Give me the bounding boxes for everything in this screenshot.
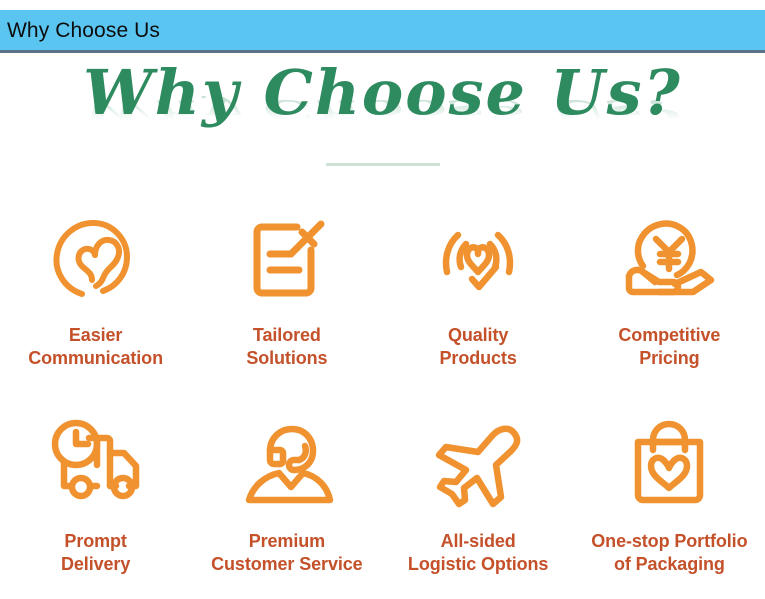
feature-row-2: Prompt Delivery Premium Customer Service — [0, 412, 765, 576]
page-content: Why Choose Us? Why Choose Us? Easier Com… — [0, 56, 765, 599]
feature-label: All-sided Logistic Options — [408, 530, 548, 576]
feature-item-easier-communication[interactable]: Easier Communication — [0, 206, 191, 370]
feature-item-competitive-pricing[interactable]: Competitive Pricing — [574, 206, 765, 370]
feature-item-quality-products[interactable]: Quality Products — [383, 206, 574, 370]
feature-item-one-stop-portfolio-of-packaging[interactable]: One-stop Portfolio of Packaging — [574, 412, 765, 576]
page-title: Why Choose Us? — [0, 62, 765, 124]
page-title-block: Why Choose Us? Why Choose Us? — [0, 62, 765, 162]
feature-row-1: Easier Communication Tailored Solutions — [0, 206, 765, 370]
hand-coin-yen-icon — [619, 206, 719, 310]
headset-agent-icon — [237, 412, 337, 516]
feature-label: Competitive Pricing — [618, 324, 720, 370]
heart-signal-check-icon — [430, 206, 526, 310]
feature-item-tailored-solutions[interactable]: Tailored Solutions — [191, 206, 382, 370]
feature-label: Quality Products — [440, 324, 517, 370]
window-title: Why Choose Us — [0, 20, 160, 41]
ear-listening-icon — [48, 206, 144, 310]
title-divider — [326, 163, 440, 166]
feature-item-all-sided-logistic-options[interactable]: All-sided Logistic Options — [383, 412, 574, 576]
shopping-bag-heart-icon — [621, 412, 717, 516]
feature-item-premium-customer-service[interactable]: Premium Customer Service — [191, 412, 382, 576]
feature-label: Easier Communication — [28, 324, 163, 370]
truck-clock-icon — [44, 412, 148, 516]
feature-label: Premium Customer Service — [211, 530, 362, 576]
feature-label: One-stop Portfolio of Packaging — [591, 530, 747, 576]
document-pencil-icon — [239, 206, 335, 310]
window-header-bar: Why Choose Us — [0, 10, 765, 53]
feature-label: Tailored Solutions — [246, 324, 327, 370]
feature-item-prompt-delivery[interactable]: Prompt Delivery — [0, 412, 191, 576]
airplane-icon — [430, 412, 526, 516]
feature-label: Prompt Delivery — [61, 530, 130, 576]
